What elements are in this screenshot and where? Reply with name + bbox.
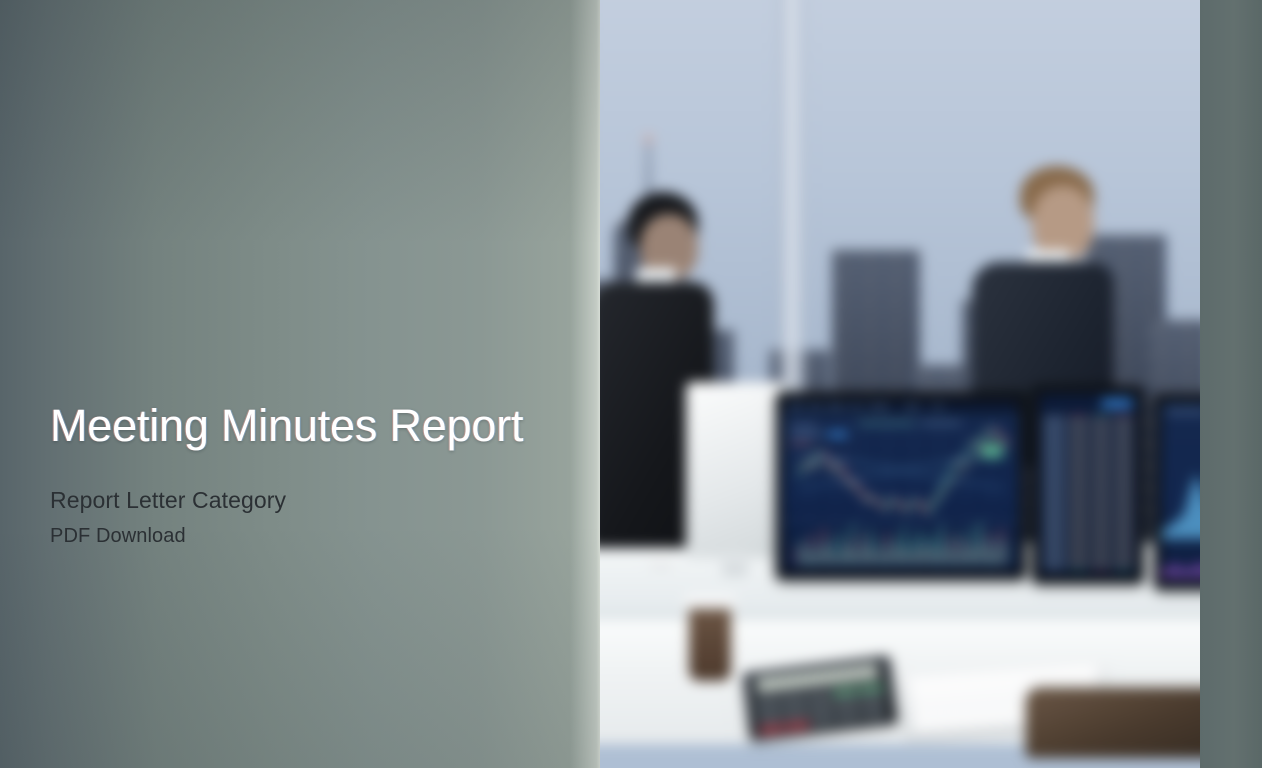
quote-cell (1092, 470, 1111, 473)
report-category: Report Letter Category (50, 487, 570, 514)
quote-row (1043, 500, 1133, 503)
quote-cell (1114, 548, 1133, 551)
quote-row (1043, 464, 1133, 467)
quote-cell (1069, 548, 1088, 551)
quote-cell (1092, 440, 1111, 443)
leather-chair (1026, 688, 1200, 758)
quote-row (1043, 530, 1133, 533)
quote-cell (1114, 464, 1133, 467)
quote-cell (1069, 416, 1088, 419)
quote-cell (1092, 536, 1111, 539)
volume-bar (979, 522, 981, 565)
volume-bar (886, 533, 888, 565)
quote-cell (1069, 428, 1088, 431)
area-chart-screen (1161, 402, 1200, 582)
quote-cell (1069, 542, 1088, 545)
volume-bar (903, 526, 905, 565)
volume-bar (946, 544, 948, 565)
quote-row (1043, 506, 1133, 509)
quote-cell (1092, 500, 1111, 503)
volume-bar (895, 537, 897, 565)
quote-cell (1069, 506, 1088, 509)
quote-cell (1092, 464, 1111, 467)
calculator-key (811, 718, 836, 728)
quote-cell (1092, 530, 1111, 533)
volume-bar (996, 539, 998, 565)
quote-cell (1092, 452, 1111, 455)
calculator-key (756, 696, 781, 706)
quote-cell (1114, 434, 1133, 437)
quote-row (1043, 548, 1133, 551)
quote-cell (1043, 548, 1065, 551)
mouse (648, 556, 674, 569)
quote-cell (1069, 434, 1088, 437)
volume-bar (890, 546, 892, 565)
quote-cell (1069, 530, 1088, 533)
quote-cell (1043, 428, 1065, 431)
calculator-key (757, 705, 782, 715)
quote-cell (1043, 542, 1065, 545)
volume-bar (958, 532, 960, 565)
volume-bar (810, 535, 812, 566)
quote-row (1043, 446, 1133, 449)
quote-board-monitor (1032, 386, 1144, 584)
quote-cell (1114, 518, 1133, 521)
quote-cell (1092, 488, 1111, 491)
volume-bar (988, 533, 990, 565)
quote-cell (1114, 452, 1133, 455)
quote-row (1043, 524, 1133, 527)
quote-cell (1069, 560, 1088, 563)
volume-bar (801, 540, 803, 565)
quote-cell (1114, 470, 1133, 473)
quote-cell (1069, 554, 1088, 557)
quote-cell (1043, 446, 1065, 449)
quote-cell (1114, 566, 1133, 569)
quote-cell (1069, 536, 1088, 539)
calculator-key (834, 696, 859, 706)
volume-bar (950, 537, 952, 565)
quote-cell (1069, 422, 1088, 425)
volume-bar (848, 542, 850, 566)
quote-row (1043, 434, 1133, 437)
volume-bar (912, 551, 914, 565)
volume-bar (856, 551, 858, 565)
volume-bar (797, 546, 799, 565)
imac-monitor (686, 382, 784, 558)
volume-bar (869, 529, 871, 565)
quote-row (1043, 494, 1133, 497)
quote-cell (1043, 536, 1065, 539)
calculator-key (836, 714, 861, 724)
quote-row (1043, 470, 1133, 473)
quote-row (1043, 476, 1133, 479)
quote-cell (1069, 440, 1088, 443)
calculator-key (862, 711, 887, 721)
quote-cell (1114, 506, 1133, 509)
quote-cell (1069, 512, 1088, 515)
quote-row (1043, 566, 1133, 569)
quote-row (1043, 542, 1133, 545)
head (1032, 186, 1094, 260)
quote-row (1043, 488, 1133, 491)
quote-cell (1114, 416, 1133, 419)
quote-cell (1114, 476, 1133, 479)
quote-cell (1092, 518, 1111, 521)
quote-cell (1114, 500, 1133, 503)
quote-cell (1092, 476, 1111, 479)
download-label: PDF Download (50, 525, 570, 548)
quote-cell (1092, 494, 1111, 497)
volume-bar (929, 542, 931, 566)
volume-bar (971, 529, 973, 565)
volume-bar (818, 543, 820, 565)
quote-cell (1114, 542, 1133, 545)
photo-blur-layer (598, 0, 1200, 768)
quote-cell (1043, 530, 1065, 533)
quote-row (1043, 452, 1133, 455)
quote-row (1043, 518, 1133, 521)
quote-cell (1092, 416, 1111, 419)
calculator-key (808, 699, 833, 709)
quote-cell (1043, 476, 1065, 479)
volume-series (783, 522, 1019, 565)
volume-bar (967, 548, 969, 565)
quote-cell (1069, 446, 1088, 449)
quote-cell (1092, 458, 1111, 461)
quote-cell (1043, 464, 1065, 467)
quote-row (1043, 440, 1133, 443)
quote-cell (1043, 524, 1065, 527)
quote-cell (1043, 566, 1065, 569)
quote-cell (1069, 458, 1088, 461)
quote-cell (1092, 482, 1111, 485)
quote-cell (1114, 440, 1133, 443)
area-chart-secondary-svg (1161, 542, 1200, 578)
quote-cell (1092, 566, 1111, 569)
quote-row (1043, 554, 1133, 557)
quote-cell (1069, 518, 1088, 521)
quote-cell (1043, 482, 1065, 485)
quote-row (1043, 416, 1133, 419)
area-chart-monitor (1154, 394, 1200, 590)
volume-bar (924, 547, 926, 565)
quote-cell (1114, 458, 1133, 461)
calculator-key (859, 683, 884, 693)
quote-cell (1092, 560, 1111, 563)
quote-cell (1069, 524, 1088, 527)
volume-bar (933, 535, 935, 566)
quote-rows (1039, 416, 1137, 569)
quote-cell (1043, 512, 1065, 515)
trading-screen (783, 400, 1019, 572)
quote-cell (1092, 434, 1111, 437)
cover-panel: Meeting Minutes Report Report Letter Cat… (0, 0, 600, 768)
volume-bar (962, 540, 964, 565)
volume-bar (954, 553, 956, 565)
quote-cell (1114, 494, 1133, 497)
quote-cell (1114, 428, 1133, 431)
quote-cell (1069, 488, 1088, 491)
quote-row (1043, 536, 1133, 539)
quote-cell (1043, 470, 1065, 473)
quote-cell (1092, 548, 1111, 551)
quote-cell (1092, 506, 1111, 509)
volume-bar (937, 550, 939, 565)
quote-cell (1043, 506, 1065, 509)
report-cover-page: Meeting Minutes Report Report Letter Cat… (0, 0, 1262, 768)
calculator-key (833, 687, 858, 697)
quote-cell (1069, 566, 1088, 569)
volume-bar (1001, 528, 1003, 565)
quote-cell (1043, 440, 1065, 443)
volume-bar (861, 536, 863, 565)
quote-cell (1092, 542, 1111, 545)
quote-cell (1043, 458, 1065, 461)
quote-header-button (1102, 399, 1132, 408)
volume-bar (844, 548, 846, 565)
quote-row (1043, 458, 1133, 461)
trading-chart-monitor (776, 392, 1026, 580)
quote-cell (1069, 494, 1088, 497)
quote-cell (1043, 494, 1065, 497)
quote-cell (1114, 488, 1133, 491)
volume-bar (941, 525, 943, 565)
quote-cell (1114, 536, 1133, 539)
volume-bar (835, 554, 837, 565)
quote-row (1043, 428, 1133, 431)
quote-cell (1069, 476, 1088, 479)
quote-cell (1114, 482, 1133, 485)
volume-bar (806, 550, 808, 565)
volume-bar (916, 539, 918, 565)
quote-row (1043, 560, 1133, 563)
quote-cell (1069, 482, 1088, 485)
quote-cell (1043, 554, 1065, 557)
volume-bar (878, 540, 880, 565)
quote-cell (1114, 446, 1133, 449)
page-title: Meeting Minutes Report (50, 402, 570, 451)
volume-bar (831, 539, 833, 565)
volume-bar (920, 530, 922, 565)
volume-bar (827, 547, 829, 565)
calculator-key (860, 693, 885, 703)
volume-bar (840, 532, 842, 565)
quote-cell (1043, 500, 1065, 503)
quote-cell (1069, 452, 1088, 455)
coffee-cup (689, 609, 731, 681)
quote-cell (1114, 530, 1133, 533)
quote-cell (1114, 422, 1133, 425)
volume-bar (873, 550, 875, 565)
quote-cell (1092, 512, 1111, 515)
volume-bar (907, 543, 909, 565)
quote-row (1043, 422, 1133, 425)
volume-bar (814, 553, 816, 565)
quote-cell (1043, 416, 1065, 419)
imac-stand (722, 554, 748, 576)
quote-cell (1043, 488, 1065, 491)
volume-bar (823, 528, 825, 565)
quote-cell (1092, 428, 1111, 431)
quote-cell (1043, 434, 1065, 437)
quote-cell (1043, 422, 1065, 425)
volume-bar (975, 546, 977, 565)
volume-bar (865, 544, 867, 565)
quote-cell (1114, 554, 1133, 557)
calculator-key (782, 693, 807, 703)
volume-bar (1005, 543, 1007, 565)
cover-photo (598, 0, 1200, 768)
quote-cell (1043, 452, 1065, 455)
calculator-key (759, 724, 784, 734)
volume-bar (992, 551, 994, 565)
quote-cell (1092, 524, 1111, 527)
calculator-key (785, 721, 810, 731)
quote-cell (1114, 512, 1133, 515)
quote-row (1043, 512, 1133, 515)
volume-bar (899, 548, 901, 565)
volume-bar (984, 542, 986, 566)
quote-cell (1092, 554, 1111, 557)
area-chart-svg (1161, 467, 1200, 539)
chart-label (1167, 410, 1200, 413)
quote-cell (1069, 470, 1088, 473)
quote-cell (1114, 524, 1133, 527)
cover-text-block: Meeting Minutes Report Report Letter Cat… (50, 402, 570, 548)
quote-cell (1043, 518, 1065, 521)
quote-cell (1069, 500, 1088, 503)
calculator-key (783, 702, 808, 712)
quote-cell (1092, 446, 1111, 449)
quote-cell (1043, 560, 1065, 563)
right-edge-band (1200, 0, 1262, 768)
volume-bar (882, 553, 884, 565)
calculator-key (807, 690, 832, 700)
quote-cell (1069, 464, 1088, 467)
quote-cell (1114, 560, 1133, 563)
quote-cell (1092, 422, 1111, 425)
quote-row (1043, 482, 1133, 485)
volume-bar (852, 524, 854, 566)
quote-board-screen (1039, 394, 1137, 576)
